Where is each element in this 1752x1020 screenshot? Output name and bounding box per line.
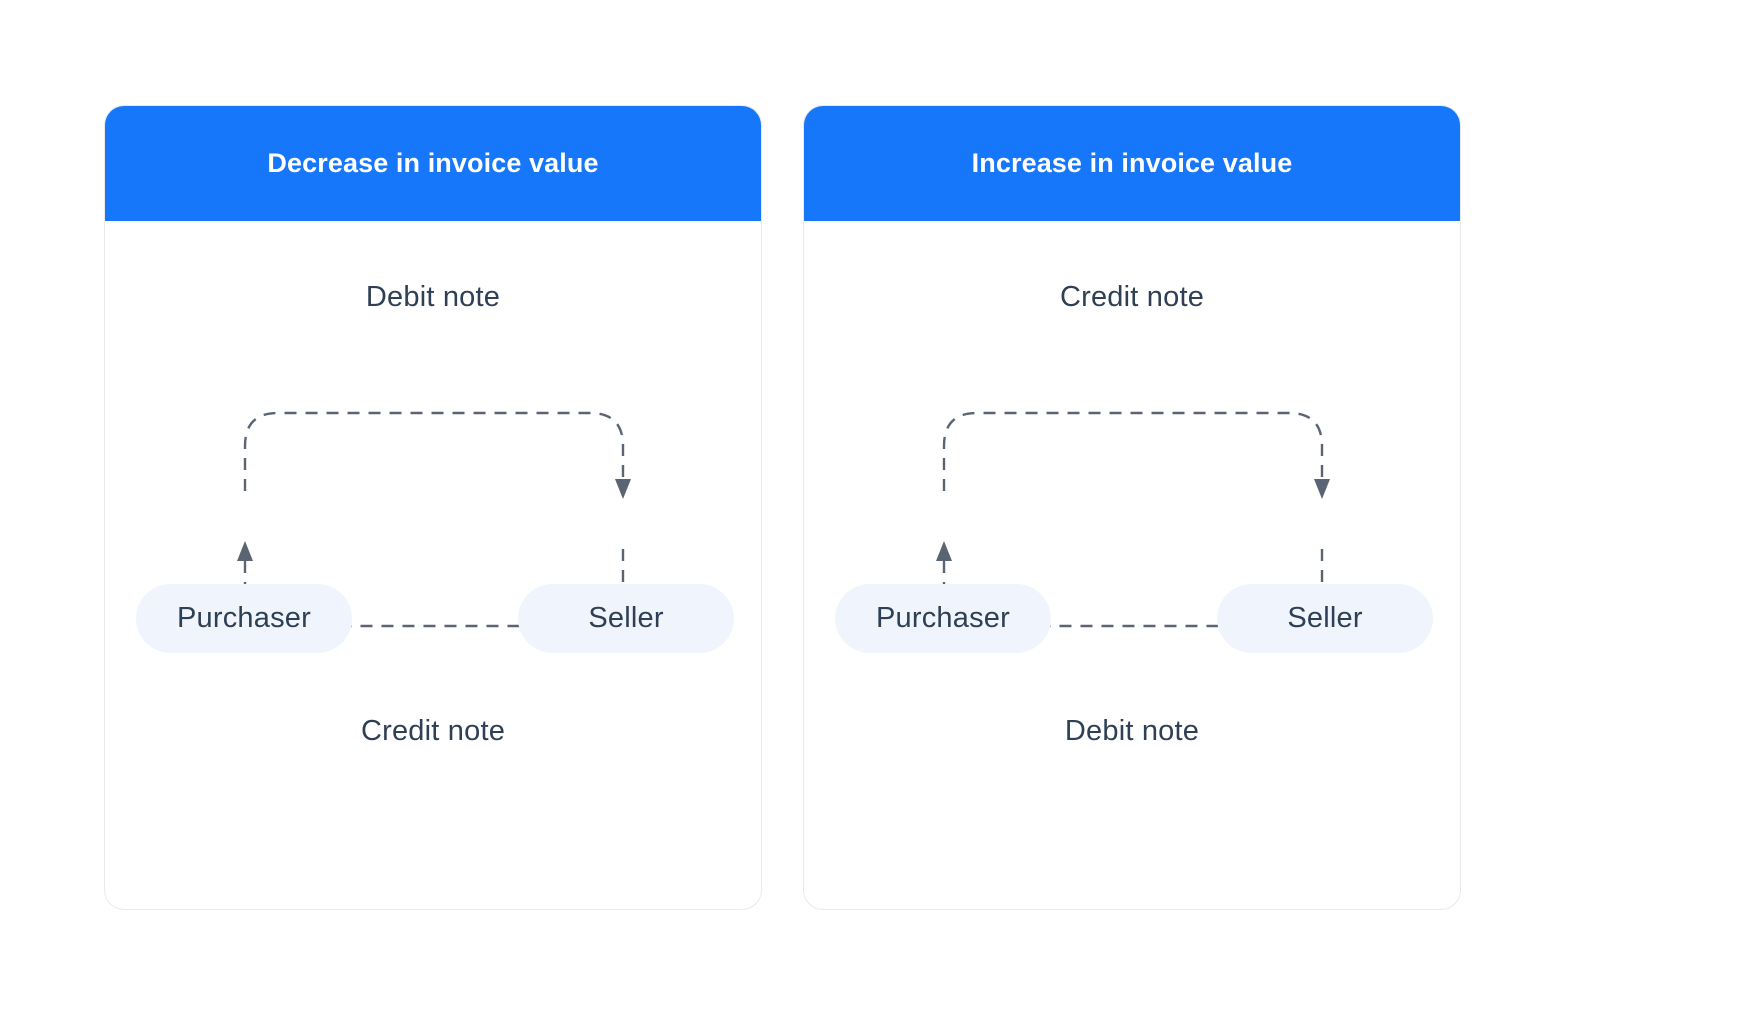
top-arrow-path: [944, 413, 1330, 499]
card-body-decrease: Debit note Purchaser: [105, 221, 761, 909]
node-purchaser[interactable]: Purchaser: [835, 584, 1051, 653]
node-seller[interactable]: Seller: [518, 584, 734, 653]
node-purchaser-label: Purchaser: [876, 602, 1010, 635]
node-seller-label: Seller: [588, 602, 663, 635]
card-increase-in-invoice-value: Increase in invoice value Credit note: [803, 105, 1461, 910]
node-purchaser-label: Purchaser: [177, 602, 311, 635]
card-header-increase: Increase in invoice value: [804, 106, 1460, 221]
node-purchaser[interactable]: Purchaser: [136, 584, 352, 653]
card-decrease-in-invoice-value: Decrease in invoice value Debit note: [104, 105, 762, 910]
top-note-label: Debit note: [105, 281, 761, 314]
diagram-canvas: Decrease in invoice value Debit note: [0, 0, 1752, 1020]
bottom-note-label: Debit note: [804, 715, 1460, 748]
top-arrow-path: [245, 413, 631, 499]
top-note-label: Credit note: [804, 281, 1460, 314]
card-header-title: Increase in invoice value: [972, 147, 1293, 179]
bottom-note-label: Credit note: [105, 715, 761, 748]
node-seller[interactable]: Seller: [1217, 584, 1433, 653]
node-seller-label: Seller: [1287, 602, 1362, 635]
card-header-title: Decrease in invoice value: [267, 147, 598, 179]
card-body-increase: Credit note Purchaser Seller: [804, 221, 1460, 909]
card-header-decrease: Decrease in invoice value: [105, 106, 761, 221]
